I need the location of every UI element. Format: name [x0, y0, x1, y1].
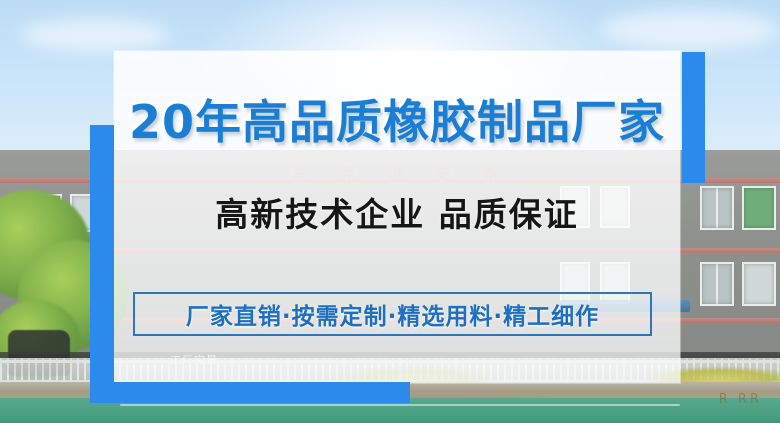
banner-content: 20年高品质橡胶制品厂家 高新技术企业 品质保证 厂家直销·按需定制·精选用料·…	[114, 51, 680, 383]
tagline-text: 厂家直销·按需定制·精选用料·精工细作	[186, 297, 599, 331]
tagline-box: 厂家直销·按需定制·精选用料·精工细作	[133, 292, 652, 336]
building-window	[742, 186, 776, 230]
court-line	[120, 404, 680, 406]
building-window	[700, 186, 734, 230]
subheadline-text: 高新技术企业 品质保证	[114, 198, 680, 231]
accent-bar-top-right	[682, 52, 705, 183]
right-watermark: R RR	[719, 392, 762, 407]
building-window	[742, 262, 776, 306]
headline-text: 20年高品质橡胶制品厂家	[114, 99, 680, 145]
cloud-shape	[600, 10, 780, 50]
cloud-shape	[20, 18, 170, 52]
accent-bar-left	[90, 125, 114, 403]
accent-bar-bottom	[90, 382, 410, 403]
building-window	[700, 262, 734, 306]
promotional-banner: 东 莞 道 安 新 工厂实景 R RR 20年高品质橡胶制品厂家 高新技术企业 …	[0, 0, 780, 423]
